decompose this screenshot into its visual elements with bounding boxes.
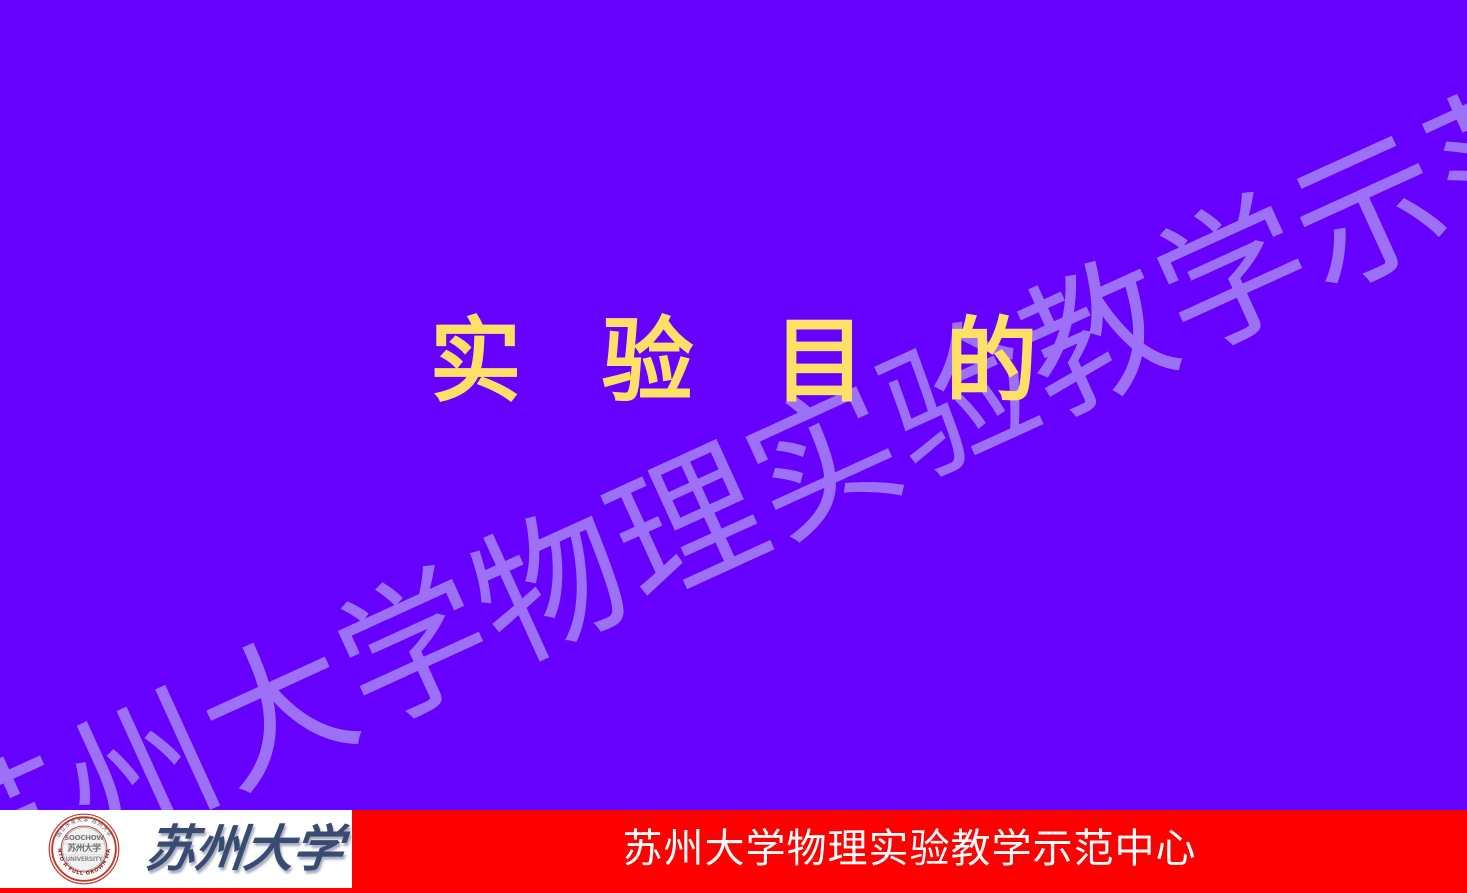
- svg-text:SOOCHOW: SOOCHOW: [64, 833, 104, 842]
- diagonal-watermark: 苏州大学物理实验教学示范中心: [0, 74, 1467, 810]
- presentation-slide: 苏州大学物理实验教学示范中心 实 验 目 的 国立东吴大学 苏州大学 UNTO …: [0, 0, 1467, 893]
- footer-caption: 苏州大学物理实验教学示范中心: [352, 810, 1467, 888]
- logo-panel: 国立东吴大学 苏州大学 UNTO A FULL GROWN MAN SOOCHO…: [0, 810, 352, 888]
- slide-title: 实 验 目 的: [0, 312, 1467, 411]
- svg-text:苏州大学: 苏州大学: [67, 842, 101, 854]
- university-wordmark: 苏州大学: [143, 816, 350, 882]
- university-seal-icon: 国立东吴大学 苏州大学 UNTO A FULL GROWN MAN SOOCHO…: [47, 812, 121, 886]
- svg-text:UNIVERSITY: UNIVERSITY: [66, 857, 104, 863]
- slide-canvas: 苏州大学物理实验教学示范中心 实 验 目 的: [0, 0, 1467, 810]
- slide-footer-bar: 国立东吴大学 苏州大学 UNTO A FULL GROWN MAN SOOCHO…: [0, 810, 1467, 893]
- footer-underline: [0, 888, 1467, 893]
